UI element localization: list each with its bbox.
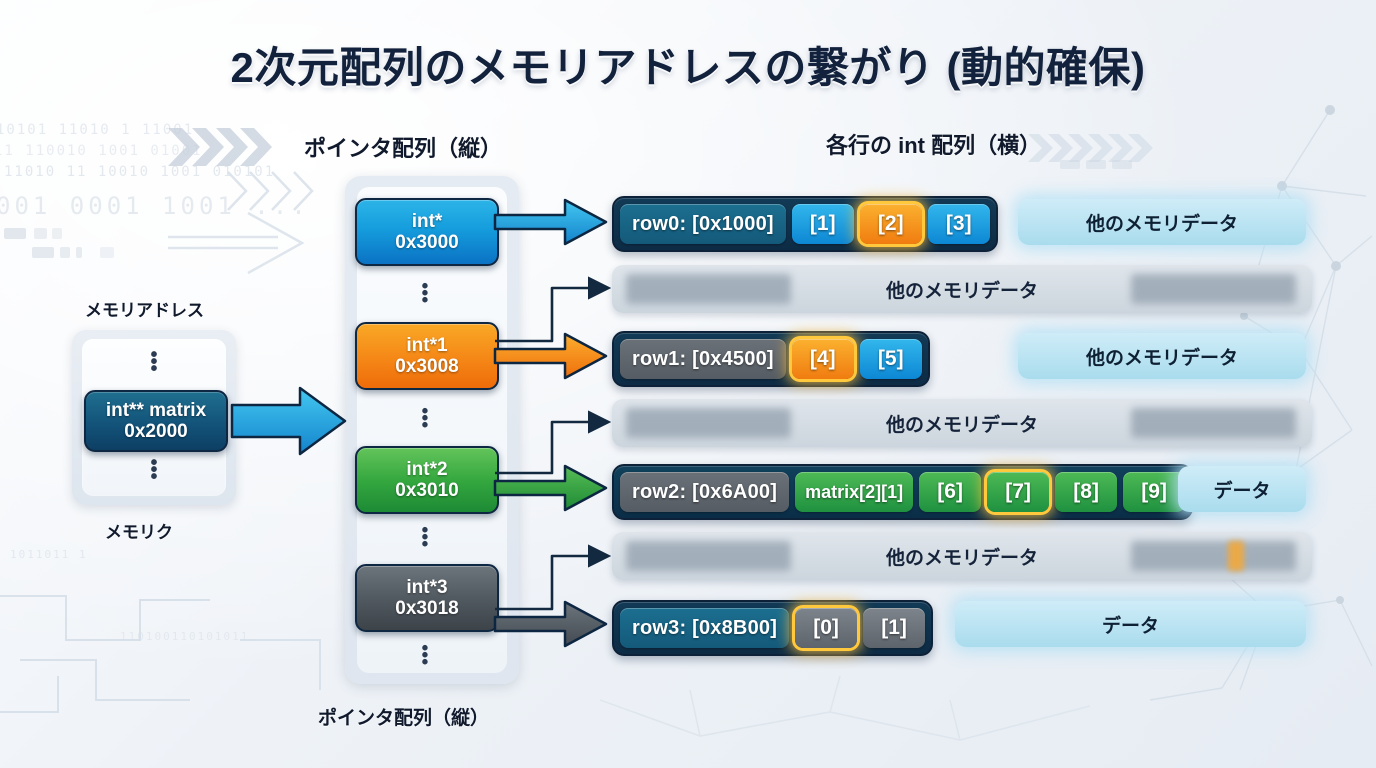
row-cell-highlighted[interactable]: [4] bbox=[792, 339, 854, 379]
binary-text-6: 110100110101011 bbox=[120, 630, 249, 643]
band-label: 他のメモリデータ bbox=[886, 410, 1038, 437]
other-memory-band-gray-1: 他のメモリデータ bbox=[612, 399, 1312, 447]
row-address-label: row1: [0x4500] bbox=[620, 339, 786, 379]
pointer-box-2[interactable]: int*2 0x3010 bbox=[355, 446, 499, 514]
blurred-block-right bbox=[1131, 274, 1296, 304]
decor-block bbox=[100, 247, 114, 258]
decor-block bbox=[4, 228, 26, 239]
data-band-1: データ bbox=[955, 601, 1306, 647]
decor-block bbox=[1060, 160, 1080, 169]
other-memory-band-gray-0: 他のメモリデータ bbox=[612, 265, 1312, 313]
pointer-box-3[interactable]: int*3 0x3018 bbox=[355, 564, 499, 632]
blurred-block-right bbox=[1131, 408, 1296, 438]
pointer-address: 0x3008 bbox=[395, 356, 458, 377]
blurred-block-right bbox=[1131, 541, 1296, 571]
band-label: データ bbox=[1213, 476, 1270, 503]
row-cell[interactable]: [6] bbox=[919, 472, 981, 512]
decor-block bbox=[76, 247, 82, 258]
pointer-name: int*3 bbox=[406, 577, 447, 598]
header-int-rows: 各行の int 配列（横） bbox=[826, 128, 1041, 160]
memory-ellipsis-bottom: • • • bbox=[82, 460, 226, 481]
blurred-block-left bbox=[626, 541, 791, 571]
binary-text-3: 11010 11 10010 1001 010101 bbox=[4, 164, 275, 180]
memory-address-label: メモリアドレス bbox=[85, 296, 204, 321]
blurred-block-left bbox=[626, 274, 791, 304]
matrix-variable-box[interactable]: int** matrix 0x2000 bbox=[84, 390, 228, 452]
pointer-ellipsis-3: • • • bbox=[355, 645, 495, 666]
memory-ellipsis-top: • • • bbox=[82, 352, 226, 373]
pointer-name: int* bbox=[412, 211, 443, 232]
band-label: 他のメモリデータ bbox=[1086, 209, 1238, 236]
decor-block bbox=[32, 247, 54, 258]
decor-block bbox=[1086, 160, 1106, 169]
page-title: 2次元配列のメモリアドレスの繋がり (動的確保) bbox=[0, 34, 1376, 95]
row-cell-highlighted[interactable]: [2] bbox=[860, 204, 922, 244]
pointer-box-1[interactable]: int*1 0x3008 bbox=[355, 322, 499, 390]
row-cell[interactable]: [9] bbox=[1123, 472, 1185, 512]
pointer-ellipsis-2: • • • bbox=[355, 527, 495, 548]
row-cell-matrix-index[interactable]: matrix[2][1] bbox=[795, 472, 913, 512]
row-cell[interactable]: [1] bbox=[792, 204, 854, 244]
data-band-0: データ bbox=[1178, 466, 1306, 512]
binary-text-4: 001 0001 1001 ... bbox=[0, 192, 310, 220]
blurred-block-left bbox=[626, 408, 791, 438]
decor-block bbox=[1112, 160, 1132, 169]
pointer-name: int*1 bbox=[406, 335, 447, 356]
decor-block bbox=[34, 228, 47, 239]
row-cell[interactable]: [1] bbox=[863, 608, 925, 648]
row-address-label: row3: [0x8B00] bbox=[620, 608, 789, 648]
dot: • bbox=[355, 422, 495, 429]
row-strip-0[interactable]: row0: [0x1000] [1] [2] [3] bbox=[612, 196, 998, 252]
pointer-name: int*2 bbox=[406, 459, 447, 480]
binary-text-5: 1011011 1 bbox=[10, 548, 88, 561]
blurred-accent-orange bbox=[1228, 541, 1244, 571]
band-label: 他のメモリデータ bbox=[886, 543, 1038, 570]
band-label: データ bbox=[1102, 611, 1159, 638]
row-strip-3[interactable]: row3: [0x8B00] [0] [1] bbox=[612, 600, 933, 656]
dot: • bbox=[355, 297, 495, 304]
row-cell-highlighted[interactable]: [0] bbox=[795, 608, 857, 648]
band-label: 他のメモリデータ bbox=[1086, 343, 1238, 370]
matrix-type: int** matrix bbox=[106, 400, 206, 421]
decor-block bbox=[52, 228, 62, 239]
other-memory-band-blue-1: 他のメモリデータ bbox=[1018, 333, 1306, 379]
other-memory-band-gray-2: 他のメモリデータ bbox=[612, 532, 1312, 580]
row-address-label: row0: [0x1000] bbox=[620, 204, 786, 244]
pointer-address: 0x3000 bbox=[395, 232, 458, 253]
pointer-ellipsis-0: • • • bbox=[355, 283, 495, 304]
pointer-ellipsis-1: • • • bbox=[355, 408, 495, 429]
row-cell-highlighted[interactable]: [7] bbox=[987, 472, 1049, 512]
header-pointer-array: ポインタ配列（縦） bbox=[304, 131, 502, 163]
other-memory-band-blue-0: 他のメモリデータ bbox=[1018, 199, 1306, 245]
pointer-address: 0x3010 bbox=[395, 480, 458, 501]
row-cell[interactable]: [3] bbox=[928, 204, 990, 244]
row-strip-1[interactable]: row1: [0x4500] [4] [5] bbox=[612, 331, 930, 387]
dot: • bbox=[355, 659, 495, 666]
dot: • bbox=[355, 541, 495, 548]
row-address-label: row2: [0x6A00] bbox=[620, 472, 789, 512]
pointer-address: 0x3018 bbox=[395, 598, 458, 619]
dot: • bbox=[82, 366, 226, 373]
pointer-array-caption: ポインタ配列（縦） bbox=[318, 703, 489, 730]
row-strip-2[interactable]: row2: [0x6A00] matrix[2][1] [6] [7] [8] … bbox=[612, 464, 1193, 520]
band-label: 他のメモリデータ bbox=[886, 276, 1038, 303]
row-cell[interactable]: [8] bbox=[1055, 472, 1117, 512]
matrix-address: 0x2000 bbox=[124, 421, 187, 442]
memory-caption: メモリク bbox=[105, 518, 173, 543]
row-cell[interactable]: [5] bbox=[860, 339, 922, 379]
arrow-matrix-to-pointer-array bbox=[232, 388, 345, 454]
pointer-box-0[interactable]: int* 0x3000 bbox=[355, 198, 499, 266]
dot: • bbox=[82, 474, 226, 481]
decor-block bbox=[60, 247, 70, 258]
binary-text-2: 11 110010 1001 01001 bbox=[0, 143, 203, 159]
binary-text-1: 10101 11010 1 11001 bbox=[0, 122, 194, 138]
